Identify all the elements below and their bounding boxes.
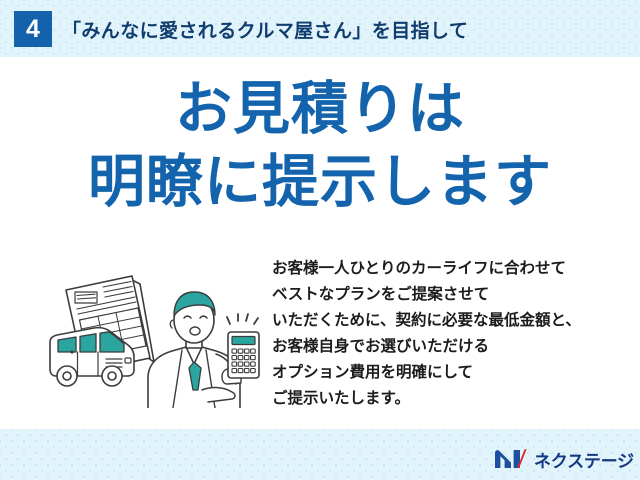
salesperson bbox=[148, 292, 241, 408]
step-number-badge: 4 bbox=[14, 11, 52, 47]
illustration-salesperson-with-quotation bbox=[36, 258, 268, 408]
header-title: 「みんなに愛されるクルマ屋さん」を目指して bbox=[62, 16, 468, 43]
brand-wordmark: ネクステージ bbox=[534, 447, 634, 472]
sparkle-accent bbox=[227, 314, 258, 324]
body-copy-line-1: お客様一人ひとりのカーライフに合わせて bbox=[272, 256, 632, 282]
promo-banner: 4 「みんなに愛されるクルマ屋さん」を目指して お見積りは 明瞭に提示します bbox=[0, 0, 640, 480]
calculator bbox=[228, 332, 259, 378]
body-copy-line-3: いただくために、契約に必要な最低金額と、 bbox=[272, 308, 632, 334]
headline-line-2: 明瞭に提示します bbox=[0, 153, 640, 213]
nextstage-n-mark-icon bbox=[494, 448, 527, 470]
body-copy-line-2: ベストなプランをご提案させて bbox=[272, 282, 632, 308]
headline: お見積りは 明瞭に提示します bbox=[0, 80, 640, 213]
brand-logo: ネクステージ bbox=[494, 446, 634, 472]
body-copy-line-4: お客様自身でお選びいただける bbox=[272, 334, 632, 360]
headline-line-1: お見積りは bbox=[0, 80, 640, 140]
body-copy-line-6: ご提示いたします。 bbox=[272, 386, 632, 412]
body-copy-line-5: オプション費用を明確にして bbox=[272, 360, 632, 386]
body-copy: お客様一人ひとりのカーライフに合わせて ベストなプランをご提案させて いただくた… bbox=[272, 256, 632, 412]
